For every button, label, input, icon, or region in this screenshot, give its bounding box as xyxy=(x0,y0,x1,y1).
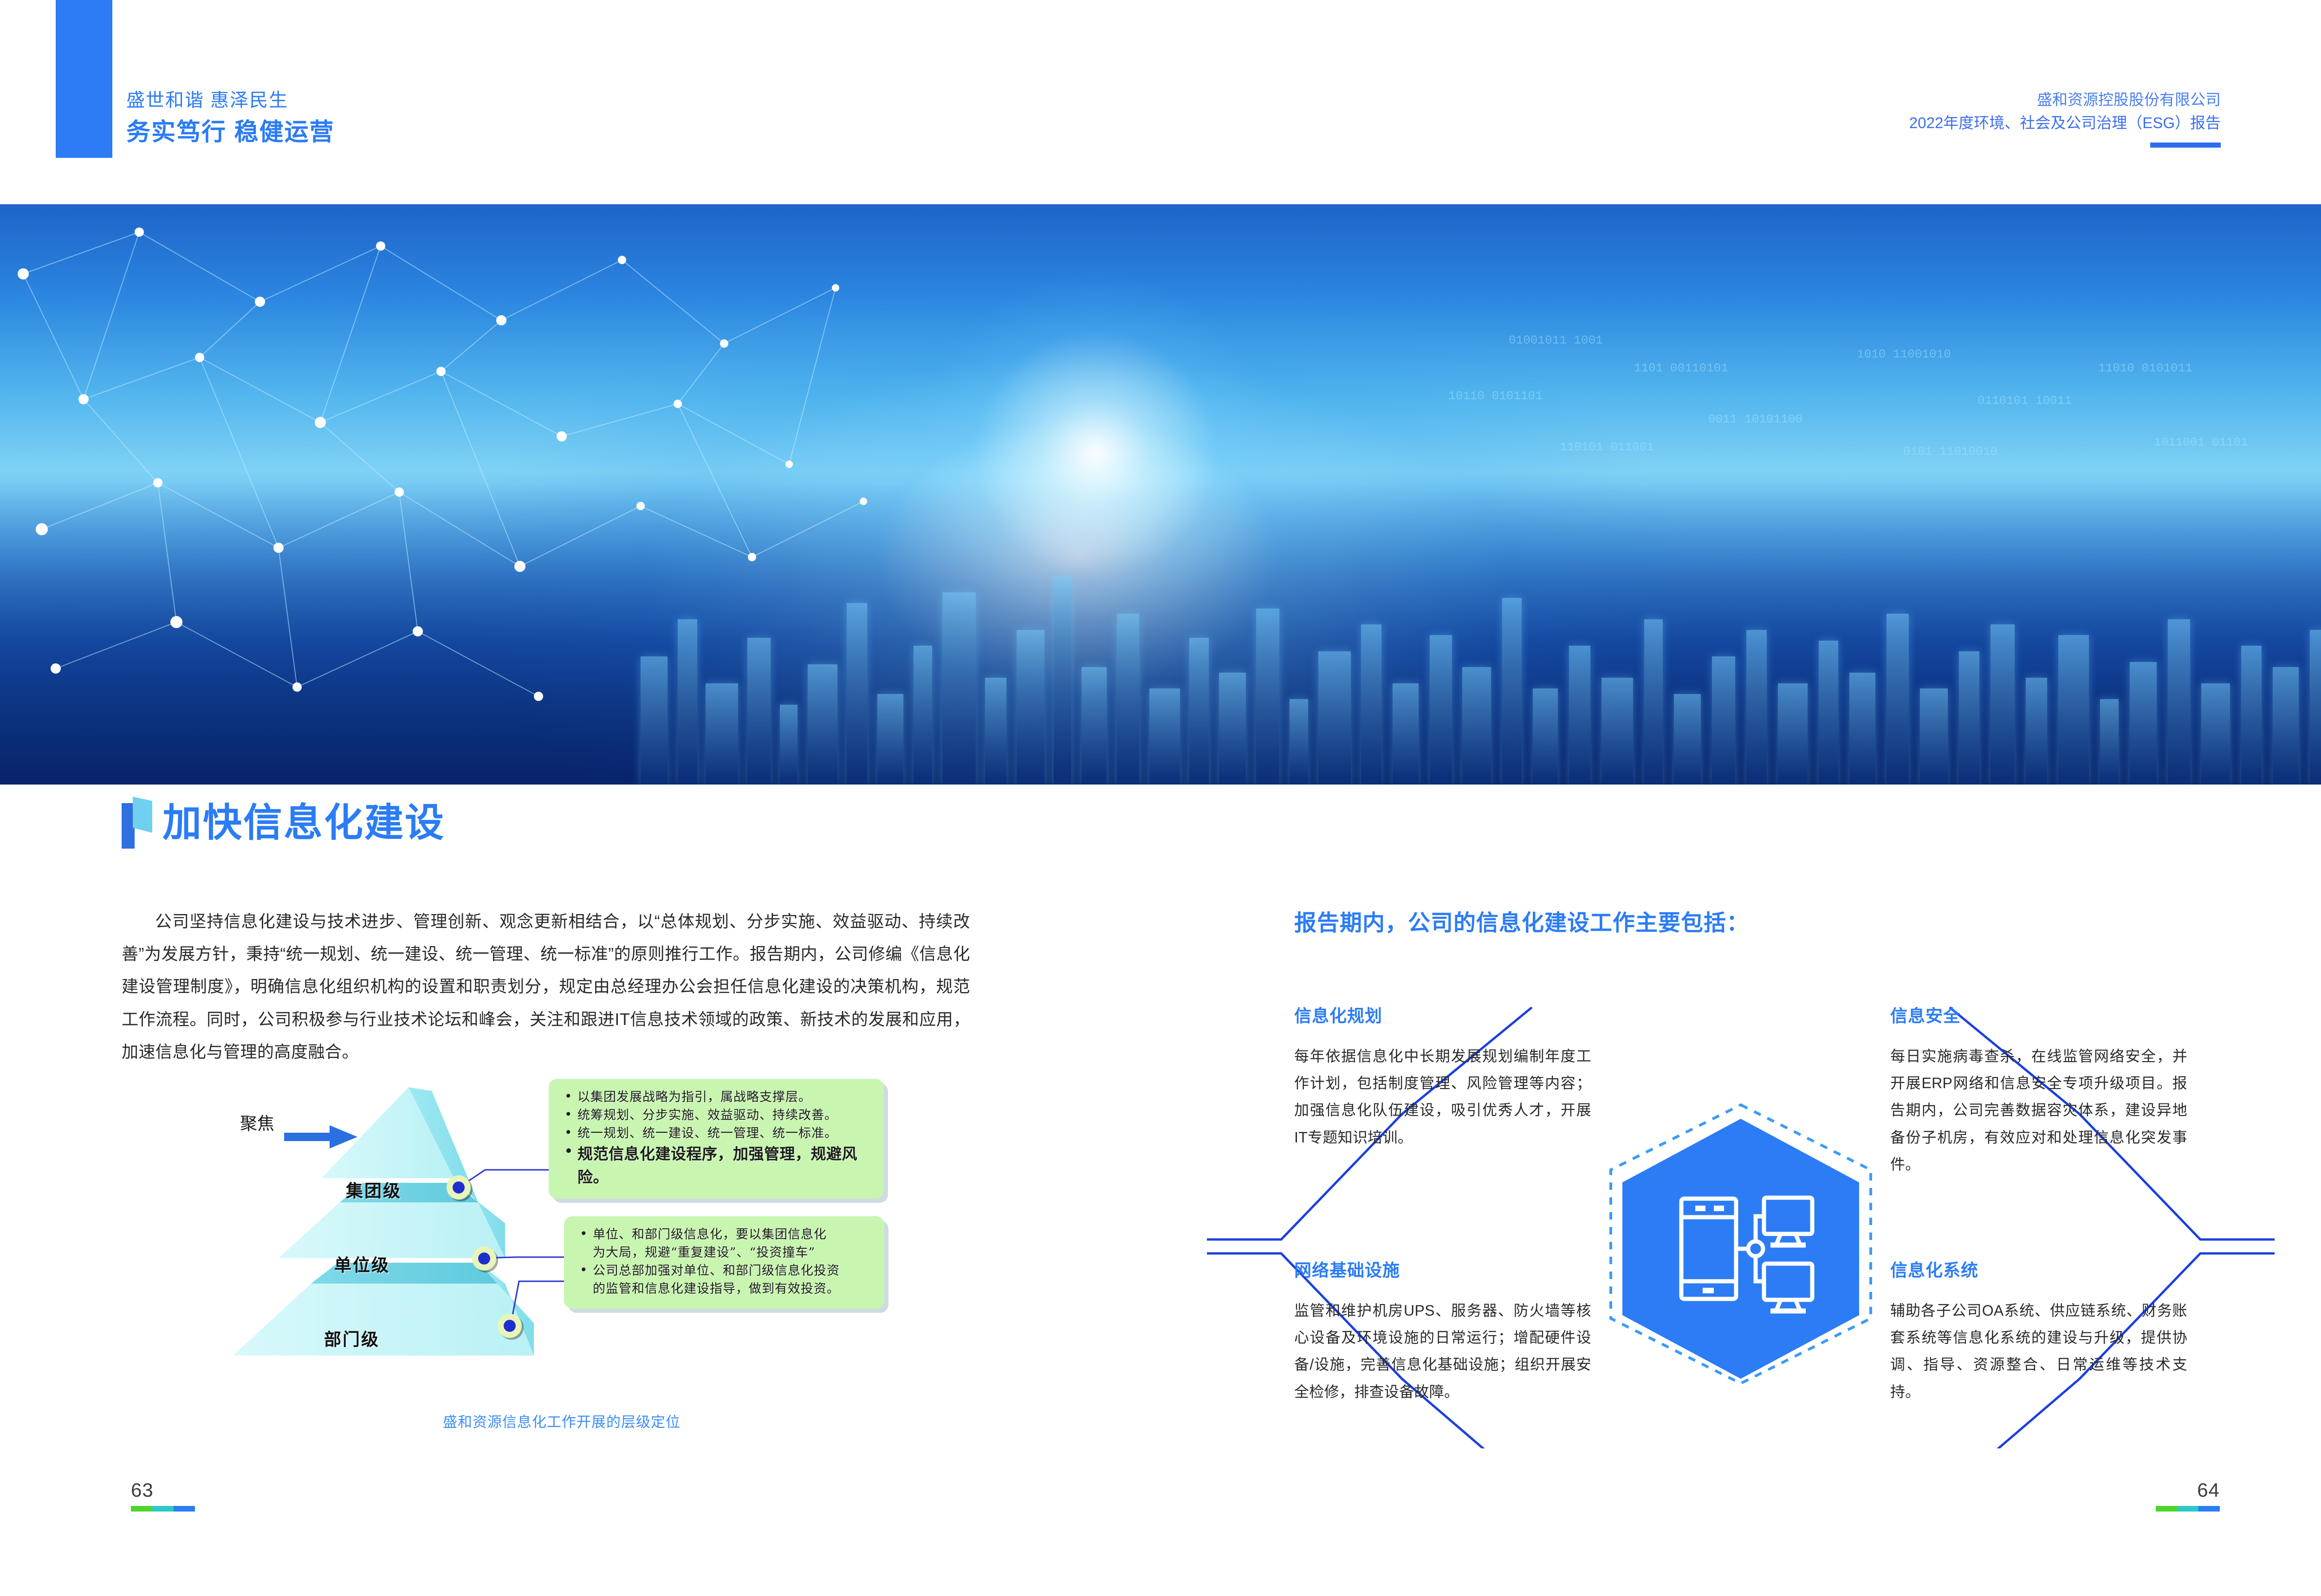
figure-caption: 盛和资源信息化工作开展的层级定位 xyxy=(218,1410,905,1431)
footer-color-bars xyxy=(131,1506,195,1512)
svg-text:0110101 10011: 0110101 10011 xyxy=(1977,394,2072,408)
company-name: 盛和资源控股股份有限公司 xyxy=(1909,88,2221,111)
svg-text:1101 00110101: 1101 00110101 xyxy=(1634,361,1728,375)
quadrant-network-infrastructure: 网络基础设施 监管和维护机房UPS、服务器、防火墙等核心设备及环境设施的日常运行… xyxy=(1294,1256,1591,1405)
quadrant-title: 网络基础设施 xyxy=(1294,1256,1591,1281)
report-name: 2022年度环境、社会及公司治理（ESG）报告 xyxy=(1909,111,2221,135)
quadrant-text: 每日实施病毒查杀，在线监管网络安全，并开展ERP网络和信息安全专项升级项目。报告… xyxy=(1890,1043,2187,1178)
svg-text:1010 11001010: 1010 11001010 xyxy=(1857,347,1951,361)
quadrant-information-security: 信息安全 每日实施病毒查杀，在线监管网络安全，并开展ERP网络和信息安全专项升级… xyxy=(1890,1002,2187,1178)
callout-item: 以集团发展战略为指引，属战略支撑层。 xyxy=(561,1088,872,1106)
pyramid-level-group: 集团级 xyxy=(346,1177,402,1202)
callout-item-cont: 为大局，规避“重复建设”、“投资撞车” xyxy=(576,1244,872,1262)
svg-text:0011 10101100: 0011 10101100 xyxy=(1708,412,1802,426)
callout-item: 单位、和部门级信息化，要以集团信息化 xyxy=(576,1226,872,1244)
quadrant-text: 每年依据信息化中长期发展规划编制年度工作计划，包括制度管理、风险管理等内容；加强… xyxy=(1294,1043,1591,1151)
page-number: 64 xyxy=(2156,1479,2220,1501)
callout-item: 规范信息化建设程序，加强管理，规避风险。 xyxy=(561,1142,872,1188)
footer-color-bars xyxy=(2156,1506,2220,1512)
page-number: 63 xyxy=(131,1479,195,1501)
quadrant-title: 信息化规划 xyxy=(1294,1002,1591,1027)
quadrant-text: 监管和维护机房UPS、服务器、防火墙等核心设备及环境设施的日常运行；增配硬件设备… xyxy=(1294,1297,1591,1405)
focus-arrow xyxy=(284,1125,357,1148)
section-body-paragraph: 公司坚持信息化建设与技术进步、管理创新、观念更新相结合，以“总体规划、分步实施、… xyxy=(122,905,970,1068)
slogan-line-2: 务实笃行 稳健运营 xyxy=(126,116,334,149)
svg-text:1011001 01101: 1011001 01101 xyxy=(2154,435,2248,449)
bookmark-icon xyxy=(122,797,150,849)
header-accent-bar xyxy=(56,0,112,158)
page-footer-left: 63 xyxy=(131,1479,195,1512)
callout-group-level: 以集团发展战略为指引，属战略支撑层。 统筹规划、分步实施、效益驱动、持续改善。 … xyxy=(549,1079,884,1199)
quadrant-title: 信息安全 xyxy=(1890,1002,2187,1027)
quadrant-title: 信息化系统 xyxy=(1890,1256,2187,1281)
header-left-slogan: 盛世和谐 惠泽民生 务实笃行 稳健运营 xyxy=(126,88,334,149)
header-rule xyxy=(2150,143,2221,148)
callout-unit-department-level: 单位、和部门级信息化，要以集团信息化 为大局，规避“重复建设”、“投资撞车” 公… xyxy=(564,1216,884,1309)
callout-item: 统一规划、统一建设、统一管理、统一标准。 xyxy=(561,1124,872,1142)
svg-text:01001011 1001: 01001011 1001 xyxy=(1509,333,1603,347)
callout-item: 统筹规划、分步实施、效益驱动、持续改善。 xyxy=(561,1106,872,1124)
svg-text:0101 11010010: 0101 11010010 xyxy=(1903,445,1997,459)
esg-report-spread: 盛世和谐 惠泽民生 务实笃行 稳健运营 盛和资源控股股份有限公司 2022年度环… xyxy=(0,0,2321,1596)
page-title: 加快信息化建设 xyxy=(162,803,445,842)
svg-text:11010 0101011: 11010 0101011 xyxy=(2098,361,2192,375)
section-title: 加快信息化建设 xyxy=(122,797,445,849)
banner-image-smart-city: 01001011 1001 1101 00110101 10110 010110… xyxy=(0,204,2321,785)
page-footer-right: 64 xyxy=(2156,1479,2220,1512)
pyramid-diagram: 聚焦 集团级 单位级 部门级 以集团发展战略为指引，属战略支撑层。 统筹规划、分… xyxy=(218,1063,905,1388)
callout-item: 公司总部加强对单位、和部门级信息化投资 xyxy=(576,1262,872,1280)
slogan-line-1: 盛世和谐 惠泽民生 xyxy=(126,88,334,112)
quadrant-text: 辅助各子公司OA系统、供应链系统、财务账套系统等信息化系统的建设与升级，提供协调… xyxy=(1890,1297,2187,1405)
pyramid-level-department: 部门级 xyxy=(324,1325,380,1350)
pyramid-level-unit: 单位级 xyxy=(334,1251,390,1276)
quadrant-information-systems: 信息化系统 辅助各子公司OA系统、供应链系统、财务账套系统等信息化系统的建设与升… xyxy=(1890,1256,2187,1405)
focus-label: 聚焦 xyxy=(240,1109,274,1135)
banner-network-overlay: 01001011 1001 1101 00110101 10110 010110… xyxy=(0,204,2321,785)
header-right-report-title: 盛和资源控股股份有限公司 2022年度环境、社会及公司治理（ESG）报告 xyxy=(1909,88,2221,148)
svg-text:110101 011001: 110101 011001 xyxy=(1560,440,1654,454)
callout-item-cont: 的监管和信息化建设指导，做到有效投资。 xyxy=(576,1280,872,1298)
quadrant-it-planning: 信息化规划 每年依据信息化中长期发展规划编制年度工作计划，包括制度管理、风险管理… xyxy=(1294,1002,1591,1151)
svg-text:10110 0101101: 10110 0101101 xyxy=(1448,389,1543,403)
right-page-heading: 报告期内，公司的信息化建设工作主要包括： xyxy=(1294,904,1749,937)
